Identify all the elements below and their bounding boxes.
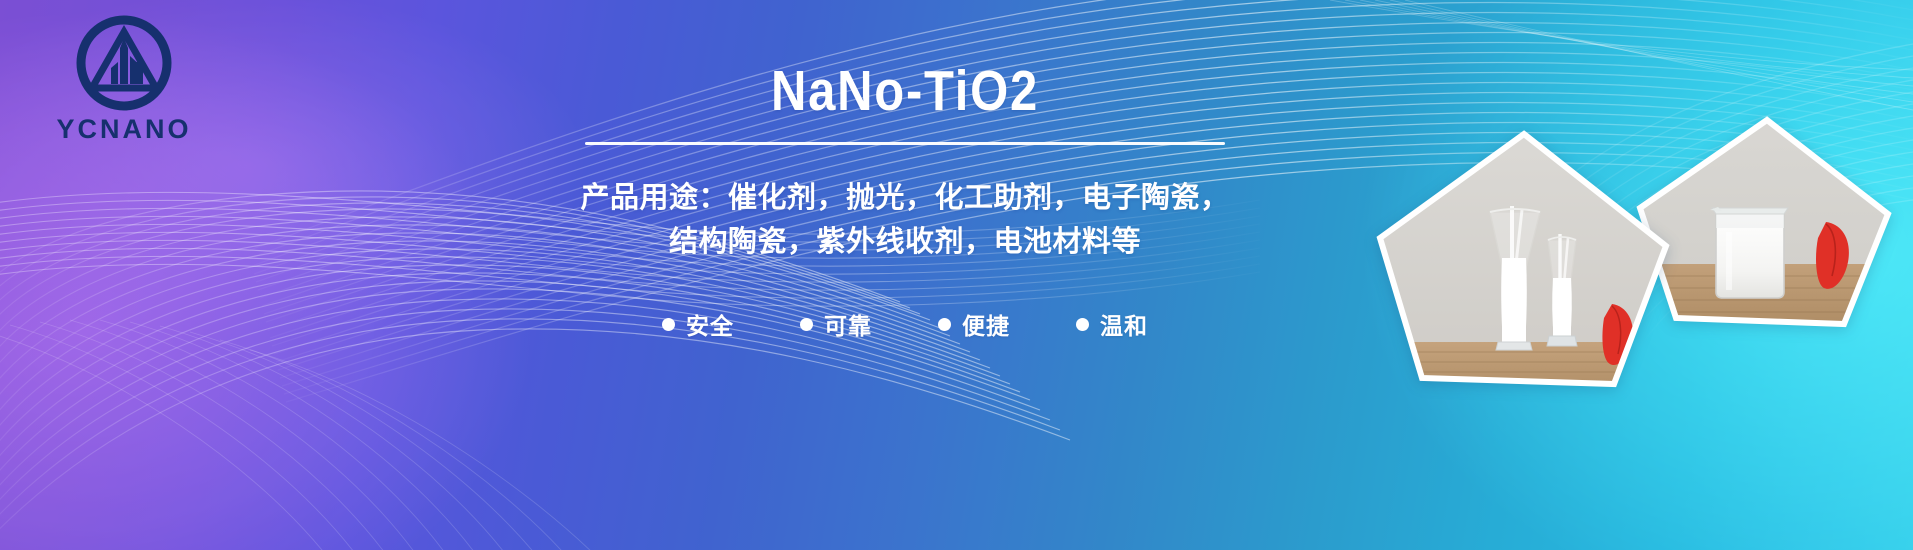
feature-item-reliable: 可靠 [800, 307, 872, 341]
feature-label: 可靠 [824, 307, 872, 341]
feature-item-safe: 安全 [662, 307, 734, 341]
title-divider [585, 142, 1225, 145]
usage-line-2: 结构陶瓷，紫外线收剂，电池材料等 [470, 219, 1340, 263]
feature-label: 便捷 [962, 307, 1010, 341]
product-image-vases [1372, 128, 1672, 396]
usage-line-1: 产品用途：催化剂，抛光，化工助剂，电子陶瓷， [470, 175, 1340, 219]
brand-logo[interactable]: YCNANO [34, 12, 214, 152]
feature-label: 温和 [1100, 307, 1148, 341]
feature-list: 安全 可靠 便捷 温和 [470, 307, 1340, 341]
page-title: NaNo-TiO2 [531, 62, 1279, 122]
hero-content: NaNo-TiO2 产品用途：催化剂，抛光，化工助剂，电子陶瓷， 结构陶瓷，紫外… [470, 62, 1340, 341]
product-hero-banner: YCNANO NaNo-TiO2 产品用途：催化剂，抛光，化工助剂，电子陶瓷， … [0, 0, 1913, 550]
feature-item-mild: 温和 [1076, 307, 1148, 341]
bullet-dot-icon [1076, 318, 1089, 331]
ycnano-mountain-circle-logo-icon [73, 12, 175, 114]
product-usage-text: 产品用途：催化剂，抛光，化工助剂，电子陶瓷， 结构陶瓷，紫外线收剂，电池材料等 [470, 175, 1340, 263]
brand-wordmark: YCNANO [34, 116, 214, 143]
feature-item-convenient: 便捷 [938, 307, 1010, 341]
bullet-dot-icon [938, 318, 951, 331]
bullet-dot-icon [800, 318, 813, 331]
bullet-dot-icon [662, 318, 675, 331]
feature-label: 安全 [686, 307, 734, 341]
